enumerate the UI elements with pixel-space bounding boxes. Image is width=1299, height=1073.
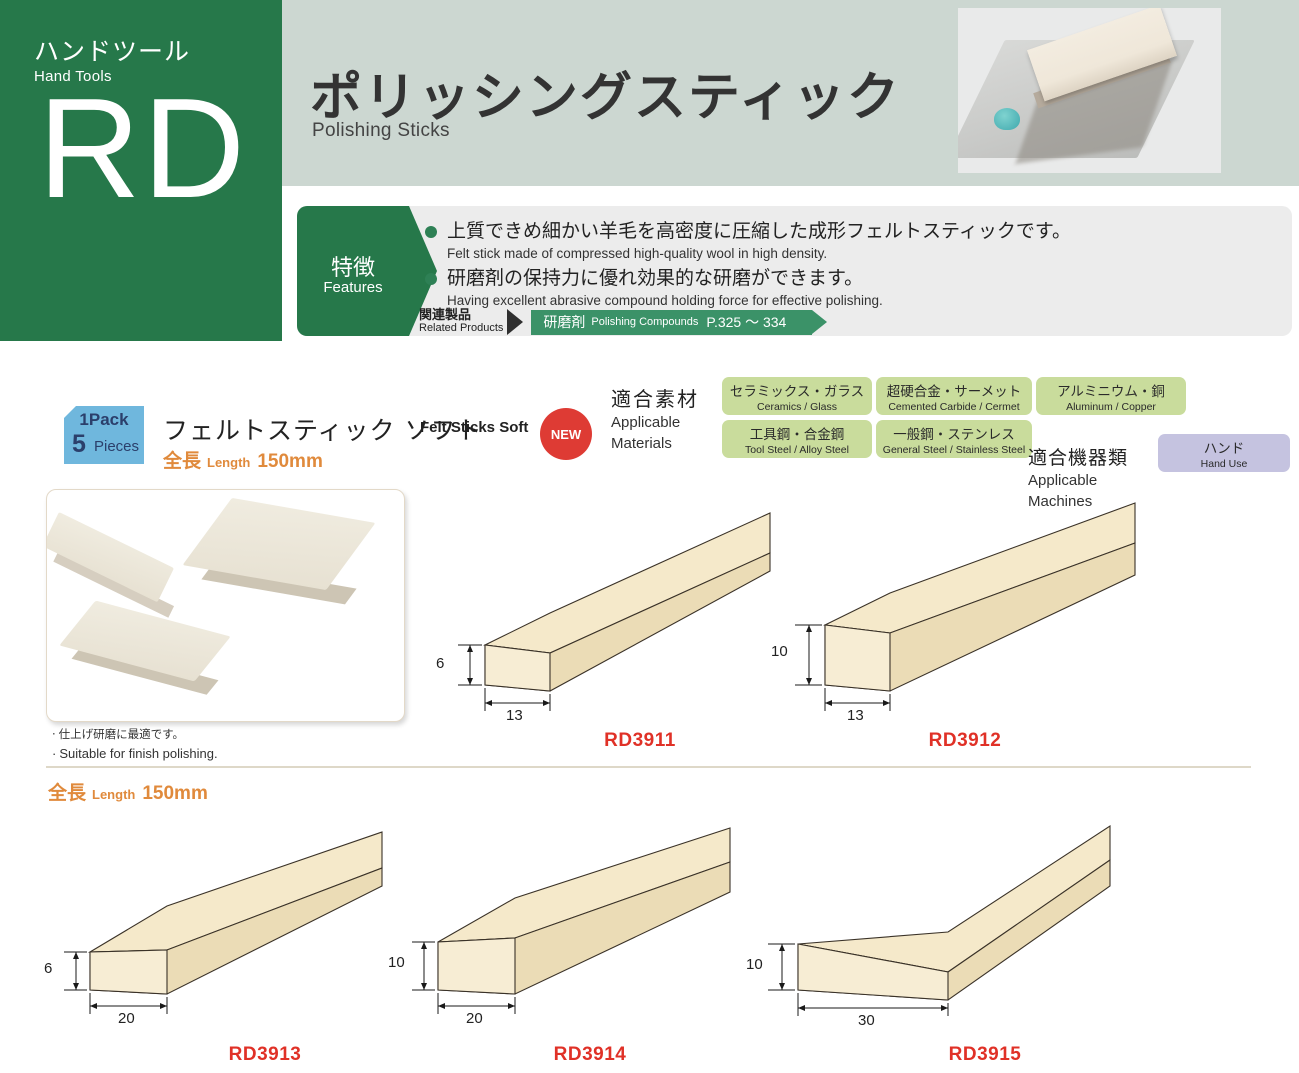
product-photo-card: [46, 489, 405, 722]
related-pill-jp: 研磨剤: [543, 312, 585, 332]
related-pill-en: Polishing Compounds: [591, 316, 698, 328]
pack-unit: Pieces: [94, 438, 139, 455]
diagram-svg-rd3915: [750, 822, 1110, 1037]
photo-note-line-en: ·Suitable for finish polishing.: [52, 744, 218, 764]
product-code-rd3911: RD3911: [530, 730, 750, 752]
dim-height-rd3911: 6: [436, 655, 444, 672]
photo-note: ·仕上げ研磨に最適です。 ·Suitable for finish polish…: [52, 726, 218, 764]
length-label-en: Length: [207, 455, 250, 470]
related-pill-page: P.325 〜 334: [706, 312, 786, 332]
bullet-icon: [425, 226, 437, 238]
chip-label-jp: アルミニウム・銅: [1057, 380, 1165, 400]
product-code-rd3914: RD3914: [490, 1044, 690, 1066]
dim-width-rd3912: 13: [847, 707, 864, 724]
photo-note-line-jp: ·仕上げ研磨に最適です。: [52, 726, 218, 744]
diagram-svg-rd3913: [52, 822, 382, 1037]
machine-chip-hand-use: ハンド Hand Use: [1158, 434, 1290, 472]
category-panel: ハンドツール Hand Tools RD: [0, 0, 282, 341]
length-label-jp: 全長: [163, 446, 201, 473]
bullet-icon: [425, 273, 437, 285]
dim-height-rd3915: 10: [746, 956, 763, 973]
diagram-rd3912: 10 13: [795, 495, 1135, 725]
photo-note-text-en: Suitable for finish polishing.: [59, 746, 217, 761]
section-divider: [46, 766, 1251, 768]
length-value: 150mm: [257, 451, 323, 473]
materials-label-jp: 適合素材: [611, 383, 699, 412]
materials-label-en-2: Materials: [611, 435, 699, 454]
feature-text-jp: 研磨剤の保持力に優れ効果的な研磨ができます。: [447, 267, 1275, 291]
material-chip-general-steel-stainless: 一般鋼・ステンレス General Steel / Stainless Stee…: [876, 420, 1032, 458]
dim-height-rd3912: 10: [771, 643, 788, 660]
material-chip-ceramics-glass: セラミックス・ガラス Ceramics / Glass: [722, 377, 872, 415]
features-tab-label-en: Features: [297, 279, 409, 296]
related-label-jp: 関連製品: [419, 309, 503, 323]
diagram-svg-rd3911: [430, 495, 770, 725]
category-code: RD: [38, 78, 247, 220]
dim-height-rd3914: 10: [388, 954, 405, 971]
bullet-dot-icon: ·: [52, 746, 56, 761]
diagram-rd3913: 6 20: [52, 822, 382, 1037]
product-code-rd3913: RD3913: [165, 1044, 365, 1066]
related-products-link[interactable]: 研磨剤 Polishing Compounds P.325 〜 334: [531, 310, 812, 335]
pack-label: 1Pack: [64, 410, 144, 430]
chip-label-en: Cemented Carbide / Cermet: [888, 401, 1019, 413]
bullet-dot-icon: ·: [52, 727, 56, 741]
chip-label-en: Tool Steel / Alloy Steel: [745, 444, 849, 456]
dim-height-rd3913: 6: [44, 960, 52, 977]
material-chip-aluminum-copper: アルミニウム・銅 Aluminum / Copper: [1036, 377, 1186, 415]
chip-label-jp: ハンド: [1204, 437, 1245, 457]
length-label-jp-2: 全長: [48, 778, 86, 805]
related-label: 関連製品 Related Products: [419, 309, 503, 335]
category-title-jp: ハンドツール: [34, 32, 190, 68]
pack-count: 5: [72, 432, 86, 457]
chip-label-en: Ceramics / Glass: [757, 401, 837, 413]
chip-label-en: Aluminum / Copper: [1066, 401, 1156, 413]
related-products: 関連製品 Related Products 研磨剤 Polishing Comp…: [419, 309, 812, 335]
features-list: 上質できめ細かい羊毛を高密度に圧縮した成形フェルトスティックです。 Felt s…: [425, 220, 1275, 314]
arrow-right-icon: [507, 309, 523, 335]
dim-width-rd3911: 13: [506, 707, 523, 724]
diagram-rd3915: 10 30: [750, 822, 1110, 1037]
material-chip-cemented-carbide-cermet: 超硬合金・サーメット Cemented Carbide / Cermet: [876, 377, 1032, 415]
machines-label-en-1: Applicable: [1028, 472, 1128, 491]
materials-label-en-1: Applicable: [611, 414, 699, 433]
length-row-bottom: 全長 Length 150mm: [48, 778, 208, 805]
pack-quantity-badge: 1Pack 5 Pieces: [64, 406, 144, 464]
feature-item: 上質できめ細かい羊毛を高密度に圧縮した成形フェルトスティックです。 Felt s…: [425, 220, 1275, 263]
feature-text-en: Felt stick made of compressed high-quali…: [447, 245, 1275, 263]
dim-width-rd3915: 30: [858, 1012, 875, 1029]
hero-compound-blob: [994, 108, 1020, 130]
feature-text-en: Having excellent abrasive compound holdi…: [447, 292, 1275, 310]
feature-item: 研磨剤の保持力に優れ効果的な研磨ができます。 Having excellent …: [425, 267, 1275, 310]
diagram-rd3914: 10 20: [400, 822, 730, 1037]
dim-width-rd3913: 20: [118, 1010, 135, 1027]
chip-label-jp: 超硬合金・サーメット: [887, 380, 1021, 400]
product-code-rd3915: RD3915: [885, 1044, 1085, 1066]
dim-width-rd3914: 20: [466, 1010, 483, 1027]
new-badge: NEW: [540, 408, 592, 460]
chip-label-jp: 工具鋼・合金鋼: [750, 423, 845, 443]
catalog-page: ハンドツール Hand Tools RD ポリッシングスティック Polishi…: [0, 0, 1299, 1073]
diagram-rd3911: 6 13: [430, 495, 770, 725]
features-tab-label-jp: 特徴: [297, 250, 409, 282]
length-value-2: 150mm: [142, 783, 208, 805]
chip-label-en: Hand Use: [1201, 458, 1248, 470]
page-title-en: Polishing Sticks: [312, 120, 450, 142]
machines-label-jp: 適合機器類: [1028, 443, 1128, 470]
related-label-en: Related Products: [419, 323, 503, 335]
chip-label-jp: 一般鋼・ステンレス: [893, 423, 1015, 443]
diagram-svg-rd3914: [400, 822, 730, 1037]
diagram-svg-rd3912: [795, 495, 1135, 725]
applicable-materials-label: 適合素材 Applicable Materials: [611, 383, 699, 454]
page-title-jp: ポリッシングスティック: [310, 55, 901, 130]
chip-label-en: General Steel / Stainless Steel: [883, 444, 1025, 456]
material-chip-tool-steel-alloy-steel: 工具鋼・合金鋼 Tool Steel / Alloy Steel: [722, 420, 872, 458]
length-label-en-2: Length: [92, 787, 135, 802]
photo-note-text-jp: 仕上げ研磨に最適です。: [59, 727, 184, 741]
hero-product-photo: [958, 8, 1221, 173]
product-code-rd3912: RD3912: [855, 730, 1075, 752]
features-box: 特徴 Features 上質できめ細かい羊毛を高密度に圧縮した成形フェルトスティ…: [297, 206, 1292, 336]
length-row-top: 全長 Length 150mm: [163, 446, 323, 473]
chip-label-jp: セラミックス・ガラス: [730, 380, 864, 400]
product-name-en: Felt Sticks Soft: [420, 419, 528, 436]
feature-text-jp: 上質できめ細かい羊毛を高密度に圧縮した成形フェルトスティックです。: [447, 220, 1275, 244]
